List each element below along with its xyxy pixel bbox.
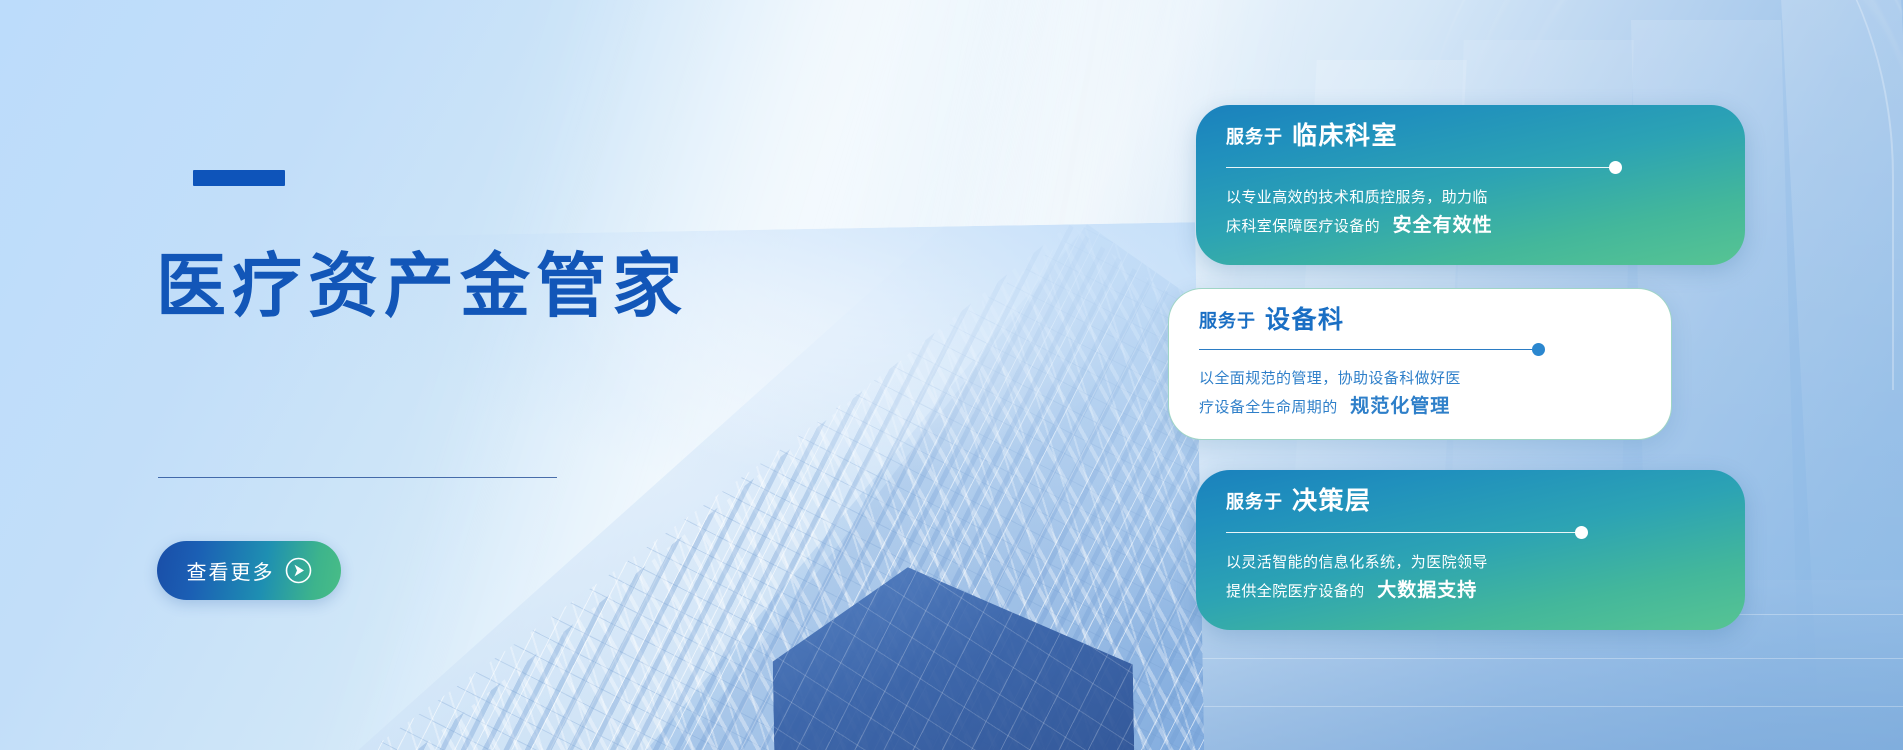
card-heading-main: 设备科 bbox=[1265, 306, 1345, 334]
card-heading: 服务于 临床科室 bbox=[1226, 122, 1398, 150]
service-card-decision-makers[interactable]: 服务于 决策层 以灵活智能的信息化系统，为医院领导 提供全院医疗设备的 大数据支… bbox=[1196, 470, 1745, 630]
card-heading: 服务于 决策层 bbox=[1226, 487, 1372, 515]
card-body-line-2: 提供全院医疗设备的 大数据支持 bbox=[1226, 578, 1477, 605]
card-body-line-1: 以专业高效的技术和质控服务，助力临 bbox=[1226, 185, 1488, 211]
card-heading-prefix: 服务于 bbox=[1226, 124, 1283, 150]
card-heading-main: 临床科室 bbox=[1292, 122, 1398, 150]
card-body-line-2-normal: 疗设备全生命周期的 bbox=[1199, 399, 1338, 416]
card-rule-endpoint-dot bbox=[1532, 343, 1545, 356]
card-heading-prefix: 服务于 bbox=[1226, 489, 1283, 515]
card-body-line-1: 以全面规范的管理，协助设备科做好医 bbox=[1199, 366, 1461, 392]
service-card-clinical[interactable]: 服务于 临床科室 以专业高效的技术和质控服务，助力临 床科室保障医疗设备的 安全… bbox=[1196, 105, 1745, 265]
card-rule bbox=[1199, 349, 1539, 350]
card-rule-endpoint-dot bbox=[1575, 526, 1588, 539]
card-body-highlight: 大数据支持 bbox=[1377, 580, 1477, 601]
card-heading-prefix: 服务于 bbox=[1199, 308, 1256, 334]
hero-banner: 医疗资产金管家 查看更多 服务于 临床科室 以专业高效的技术和质控服务，助力临 bbox=[0, 0, 1903, 750]
card-body-line-2: 床科室保障医疗设备的 安全有效性 bbox=[1226, 213, 1493, 240]
card-body-line-1: 以灵活智能的信息化系统，为医院领导 bbox=[1226, 550, 1488, 576]
card-body-highlight: 规范化管理 bbox=[1350, 396, 1450, 417]
card-rule bbox=[1226, 167, 1615, 168]
card-heading-main: 决策层 bbox=[1292, 487, 1372, 515]
card-body-line-2: 疗设备全生命周期的 规范化管理 bbox=[1199, 394, 1450, 421]
card-heading: 服务于 设备科 bbox=[1199, 306, 1345, 334]
card-rule-endpoint-dot bbox=[1609, 161, 1622, 174]
card-body-line-2-normal: 提供全院医疗设备的 bbox=[1226, 583, 1365, 600]
card-rule bbox=[1226, 532, 1581, 533]
service-cards: 服务于 临床科室 以专业高效的技术和质控服务，助力临 床科室保障医疗设备的 安全… bbox=[0, 0, 1903, 750]
card-body-line-2-normal: 床科室保障医疗设备的 bbox=[1226, 218, 1380, 235]
card-body-highlight: 安全有效性 bbox=[1393, 215, 1493, 236]
service-card-equipment-dept[interactable]: 服务于 设备科 以全面规范的管理，协助设备科做好医 疗设备全生命周期的 规范化管… bbox=[1168, 288, 1672, 440]
